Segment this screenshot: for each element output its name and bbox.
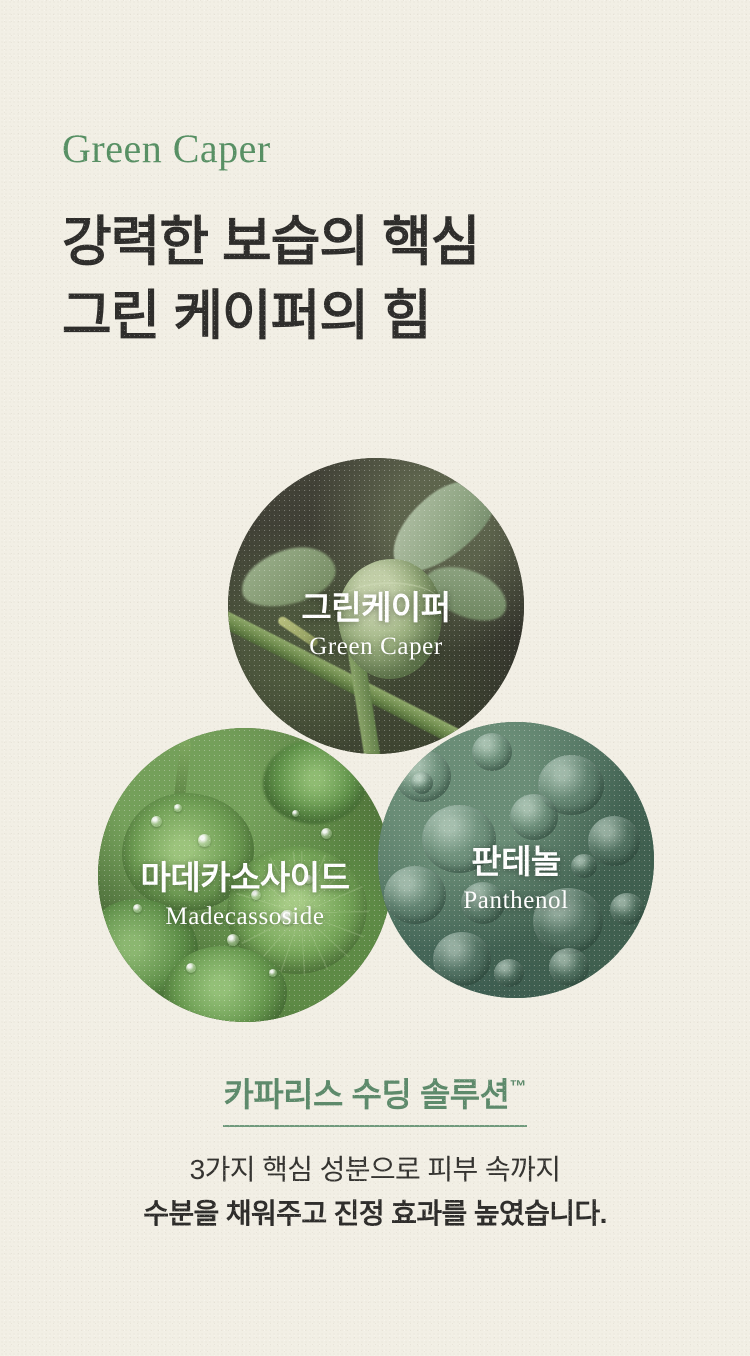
- ingredient-name-ko: 마데카소사이드: [98, 858, 392, 898]
- solution-name-block: 카파리스 수딩 솔루션™: [0, 1068, 750, 1127]
- ingredient-circle-madecassoside: 마데카소사이드 Madecassoside: [98, 728, 392, 1022]
- description-block: 3가지 핵심 성분으로 피부 속까지 수분을 채워주고 진정 효과를 높였습니다…: [0, 1148, 750, 1236]
- headline-line-1: 강력한 보습의 핵심: [62, 205, 479, 279]
- ingredient-caption-madecassoside: 마데카소사이드 Madecassoside: [98, 858, 392, 934]
- ingredient-name-en: Green Caper: [228, 630, 524, 664]
- ingredient-name-ko: 그린케이퍼: [228, 588, 524, 628]
- ingredient-caption-panthenol: 판테놀 Panthenol: [378, 842, 654, 918]
- solution-name-text: 카파리스 수딩 솔루션: [223, 1076, 509, 1113]
- promo-page: Green Caper 강력한 보습의 핵심 그린 케이퍼의 힘 그린케이퍼 G…: [0, 0, 750, 1356]
- solution-name: 카파리스 수딩 솔루션™: [223, 1068, 526, 1127]
- ingredient-name-ko: 판테놀: [378, 842, 654, 882]
- ingredient-caption-green-caper: 그린케이퍼 Green Caper: [228, 588, 524, 664]
- page-title: 강력한 보습의 핵심 그린 케이퍼의 힘: [62, 205, 479, 353]
- ingredient-name-en: Panthenol: [378, 884, 654, 918]
- ingredient-circle-panthenol: 판테놀 Panthenol: [378, 722, 654, 998]
- description-line-1: 3가지 핵심 성분으로 피부 속까지: [0, 1148, 750, 1192]
- ingredient-circle-cluster: 그린케이퍼 Green Caper: [0, 440, 750, 1010]
- brand-logo: Green Caper: [62, 125, 271, 172]
- ingredient-circle-green-caper: 그린케이퍼 Green Caper: [228, 458, 524, 754]
- ingredient-name-en: Madecassoside: [98, 900, 392, 934]
- trademark-mark: ™: [510, 1077, 527, 1096]
- headline-line-2: 그린 케이퍼의 힘: [62, 279, 479, 353]
- description-line-2: 수분을 채워주고 진정 효과를 높였습니다.: [0, 1192, 750, 1236]
